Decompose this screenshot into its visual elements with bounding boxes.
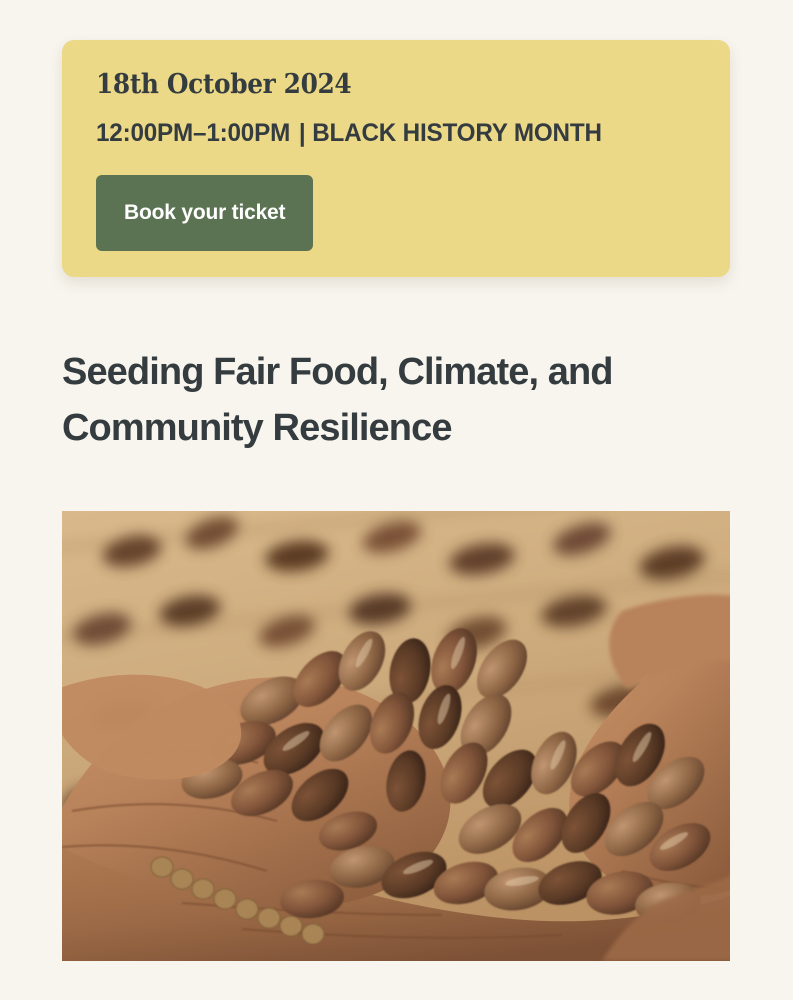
cocoa-beans-in-hands-illustration xyxy=(62,511,730,961)
event-banner: 18th October 2024 12:00PM–1:00PM|BLACK H… xyxy=(62,40,730,277)
book-your-ticket-button[interactable]: Book your ticket xyxy=(96,175,313,251)
event-date: 18th October 2024 xyxy=(96,68,648,102)
event-category: BLACK HISTORY MONTH xyxy=(312,119,602,147)
event-page: 18th October 2024 12:00PM–1:00PM|BLACK H… xyxy=(0,0,793,1000)
hero-image xyxy=(62,511,730,961)
event-meta: 12:00PM–1:00PM|BLACK HISTORY MONTH xyxy=(96,118,678,148)
event-time: 12:00PM–1:00PM xyxy=(96,119,290,147)
article-heading: Seeding Fair Food, Climate, and Communit… xyxy=(62,344,662,456)
event-meta-separator: | xyxy=(290,119,312,147)
